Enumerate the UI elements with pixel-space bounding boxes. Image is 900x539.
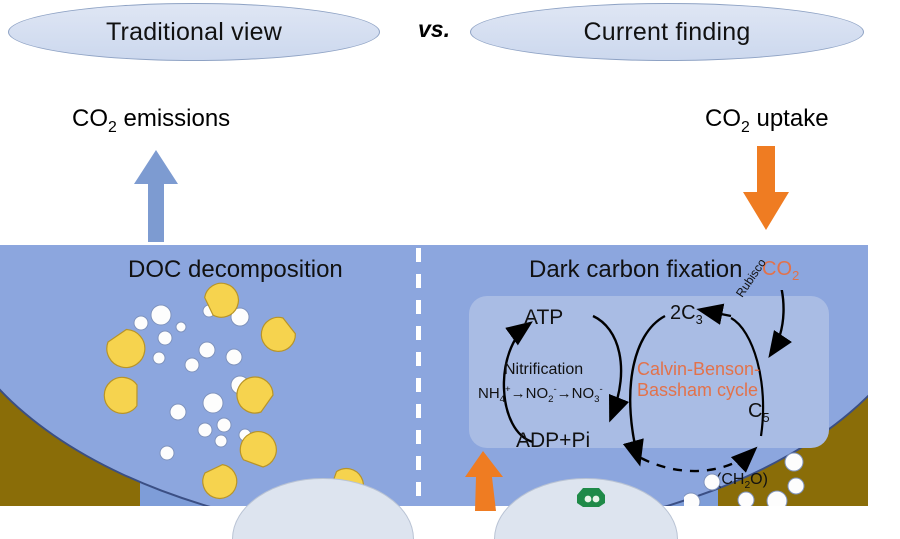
co2-uptake-label: CO2 uptake <box>705 105 829 137</box>
co2-source-subscript: 2 <box>792 268 799 283</box>
atp-label: ATP <box>524 306 563 330</box>
nitrification-label: Nitrification <box>504 361 583 379</box>
co2-source-label: CO2 <box>762 258 799 283</box>
doc-decomposition-title: DOC decomposition <box>128 256 343 284</box>
co2-uptake-text-post: uptake <box>750 105 829 132</box>
two-c3-text: 2C <box>670 302 696 324</box>
no3-sub: 3 <box>594 394 599 405</box>
nh4-sub: 4 <box>500 394 505 405</box>
current-finding-badge: Current finding <box>470 3 864 61</box>
current-finding-label: Current finding <box>584 18 751 47</box>
no3-sup: - <box>600 384 603 395</box>
co2-emissions-text-post: emissions <box>117 105 230 132</box>
co2-emissions-label: CO2 emissions <box>72 105 230 137</box>
dark-carbon-fixation-title: Dark carbon fixation <box>529 256 742 284</box>
c5-label: C5 <box>748 400 770 425</box>
doc-molecule-icon-group <box>134 305 251 460</box>
co2-uptake-text-pre: CO <box>705 105 741 132</box>
dashed-divider-icon <box>416 248 421 506</box>
nh4-text: NH <box>478 385 500 402</box>
arrow-up-icon <box>133 148 179 244</box>
c5-sub: 5 <box>762 410 769 425</box>
cbb-cycle-label: Calvin-Benson- Bassham cycle <box>637 359 760 401</box>
pacman-microbe-icon-group <box>97 277 367 506</box>
two-c3-sub: 3 <box>696 312 703 327</box>
no2-sub: 2 <box>548 394 553 405</box>
two-c3-label: 2C3 <box>670 302 703 327</box>
no3-text: →NO <box>557 385 595 402</box>
arrow-down-icon <box>741 144 791 232</box>
no2-text: →NO <box>511 385 549 402</box>
co2-emissions-text-pre: CO <box>72 105 108 132</box>
doc-decomposition-scene <box>0 245 420 506</box>
c5-text: C <box>748 400 762 422</box>
rubisco-arrow <box>771 290 784 354</box>
two-c3-arrow <box>701 310 731 316</box>
nitrification-formula: NH4+→NO2-→NO3- <box>478 384 603 405</box>
ch2o-bubbles-group <box>684 452 824 506</box>
vs-label: vs. <box>406 16 462 43</box>
co2-emissions-subscript: 2 <box>108 119 117 136</box>
adp-pi-label: ADP+Pi <box>516 429 590 453</box>
cbb-line-2: Bassham cycle <box>637 380 760 401</box>
cbb-line-1: Calvin-Benson- <box>637 359 760 380</box>
co2-uptake-subscript: 2 <box>741 119 750 136</box>
orange-uptake-arrow-icon <box>463 451 505 511</box>
traditional-view-label: Traditional view <box>106 18 282 47</box>
nitrification-arrow-left <box>504 324 533 442</box>
traditional-view-badge: Traditional view <box>8 3 380 61</box>
